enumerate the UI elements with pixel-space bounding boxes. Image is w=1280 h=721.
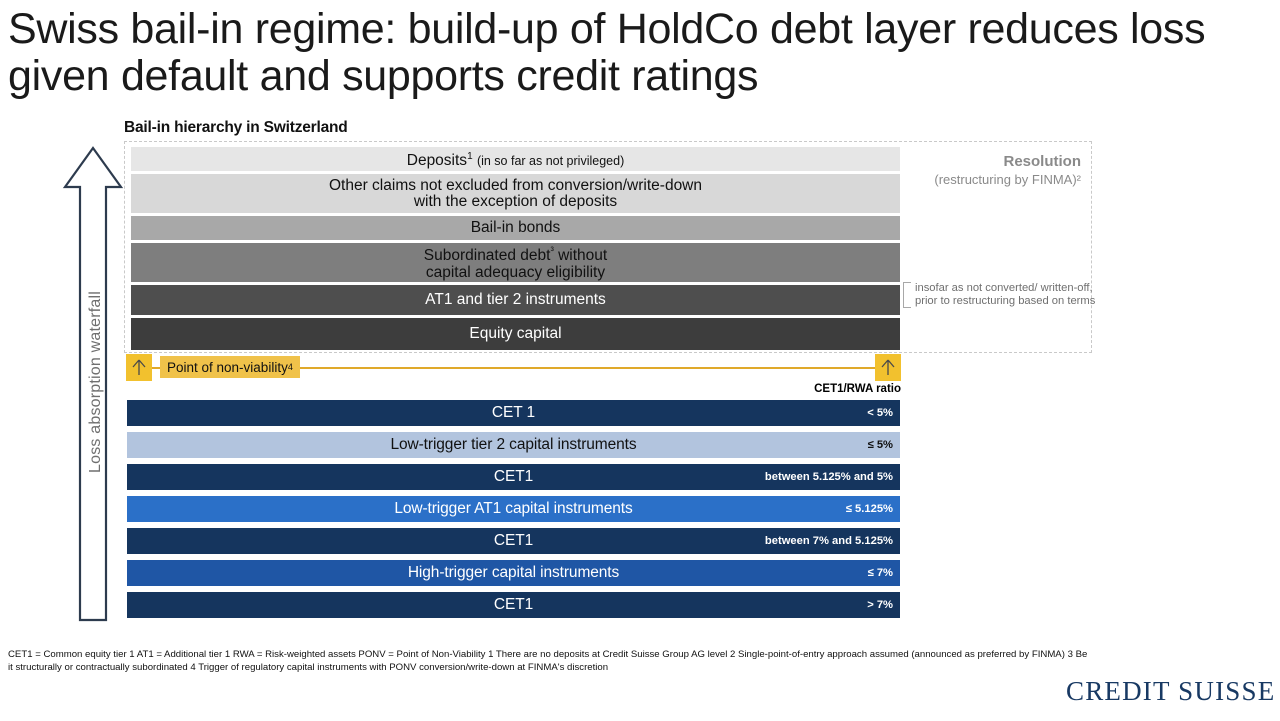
creditor-bar-label: Other claims not excluded from conversio…: [321, 178, 710, 210]
resolution-subtitle: (restructuring by FINMA)²: [934, 172, 1081, 187]
at1-bracket-line-1: insofar as not converted/ written-off,: [915, 282, 1095, 295]
up-arrow-icon: [881, 359, 895, 376]
capital-bar-label: High-trigger capital instruments: [408, 564, 619, 582]
point-of-non-viability-row: Point of non-viability4: [126, 354, 901, 381]
creditor-bar: AT1 and tier 2 instruments: [131, 285, 900, 315]
capital-bar: CET 1< 5%: [127, 400, 900, 426]
footnote-line-1: CET1 = Common equity tier 1 AT1 = Additi…: [8, 648, 1274, 661]
up-arrow-icon: [132, 359, 146, 376]
chart-subtitle: Bail-in hierarchy in Switzerland: [124, 119, 348, 137]
capital-bar: High-trigger capital instruments≤ 7%: [127, 560, 900, 586]
loss-absorption-waterfall-arrow: Loss absorption waterfall: [62, 145, 124, 623]
creditor-bar: Deposits1 (in so far as not privileged): [131, 147, 900, 171]
footnote-line-2: it structurally or contractually subordi…: [8, 661, 1274, 674]
capital-instruments-stack: CET 1< 5%Low-trigger tier 2 capital inst…: [127, 400, 900, 624]
creditor-bar: Other claims not excluded from conversio…: [131, 174, 900, 213]
footnote-marker: 1: [467, 151, 473, 162]
footnotes: CET1 = Common equity tier 1 AT1 = Additi…: [8, 648, 1274, 674]
capital-bar: Low-trigger AT1 capital instruments≤ 5.1…: [127, 496, 900, 522]
creditor-bar: Subordinated debt³ withoutcapital adequa…: [131, 243, 900, 282]
creditor-bar-label: Equity capital: [461, 326, 569, 342]
at1-bracket-line-2: prior to restructuring based on terms: [915, 295, 1095, 308]
capital-bar-label: CET 1: [492, 404, 535, 422]
creditor-bar: Bail-in bonds: [131, 216, 900, 240]
ponv-marker-left: [126, 354, 152, 381]
credit-suisse-logo-text: CREDIT SUISSE: [1066, 676, 1275, 707]
creditor-bar-label: Subordinated debt³ withoutcapital adequa…: [416, 244, 615, 280]
at1-bracket-annotation: insofar as not converted/ written-off, p…: [915, 282, 1095, 307]
creditor-bar-label: AT1 and tier 2 instruments: [417, 292, 614, 308]
capital-bar-value: ≤ 5%: [868, 439, 893, 451]
at1-bracket-icon: [903, 282, 911, 308]
ponv-marker-right: [875, 354, 901, 381]
capital-bar-label: CET1: [494, 468, 533, 486]
ponv-label-text: Point of non-viability: [167, 360, 288, 375]
waterfall-axis-label: Loss absorption waterfall: [87, 217, 105, 547]
capital-bar-value: ≤ 7%: [868, 567, 893, 579]
cet1-rwa-ratio-caption: CET1/RWA ratio: [600, 383, 901, 395]
ponv-label: Point of non-viability4: [160, 356, 300, 378]
creditor-hierarchy-stack: Deposits1 (in so far as not privileged)O…: [131, 147, 900, 353]
capital-bar-value: between 7% and 5.125%: [765, 535, 893, 547]
capital-bar: Low-trigger tier 2 capital instruments≤ …: [127, 432, 900, 458]
creditor-bar-qualifier: (in so far as not privileged): [477, 154, 624, 168]
creditor-bar-label: Deposits1 (in so far as not privileged): [399, 149, 632, 169]
capital-bar-value: between 5.125% and 5%: [765, 471, 893, 483]
capital-bar-label: CET1: [494, 532, 533, 550]
footnote-marker: ³: [550, 246, 553, 257]
capital-bar-label: Low-trigger tier 2 capital instruments: [390, 436, 636, 454]
credit-suisse-logo: CREDIT SUISSE: [1066, 676, 1280, 707]
capital-bar: CET1between 7% and 5.125%: [127, 528, 900, 554]
resolution-title: Resolution: [1004, 153, 1082, 170]
capital-bar: CET1> 7%: [127, 592, 900, 618]
ponv-footnote-marker: 4: [288, 362, 293, 372]
capital-bar-label: Low-trigger AT1 capital instruments: [394, 500, 632, 518]
creditor-bar: Equity capital: [131, 318, 900, 350]
capital-bar-label: CET1: [494, 596, 533, 614]
creditor-bar-label: Bail-in bonds: [463, 220, 569, 236]
capital-bar-value: > 7%: [867, 599, 893, 611]
capital-bar: CET1between 5.125% and 5%: [127, 464, 900, 490]
capital-bar-value: ≤ 5.125%: [846, 503, 893, 515]
page-title: Swiss bail-in regime: build-up of HoldCo…: [8, 6, 1248, 100]
capital-bar-value: < 5%: [867, 407, 893, 419]
